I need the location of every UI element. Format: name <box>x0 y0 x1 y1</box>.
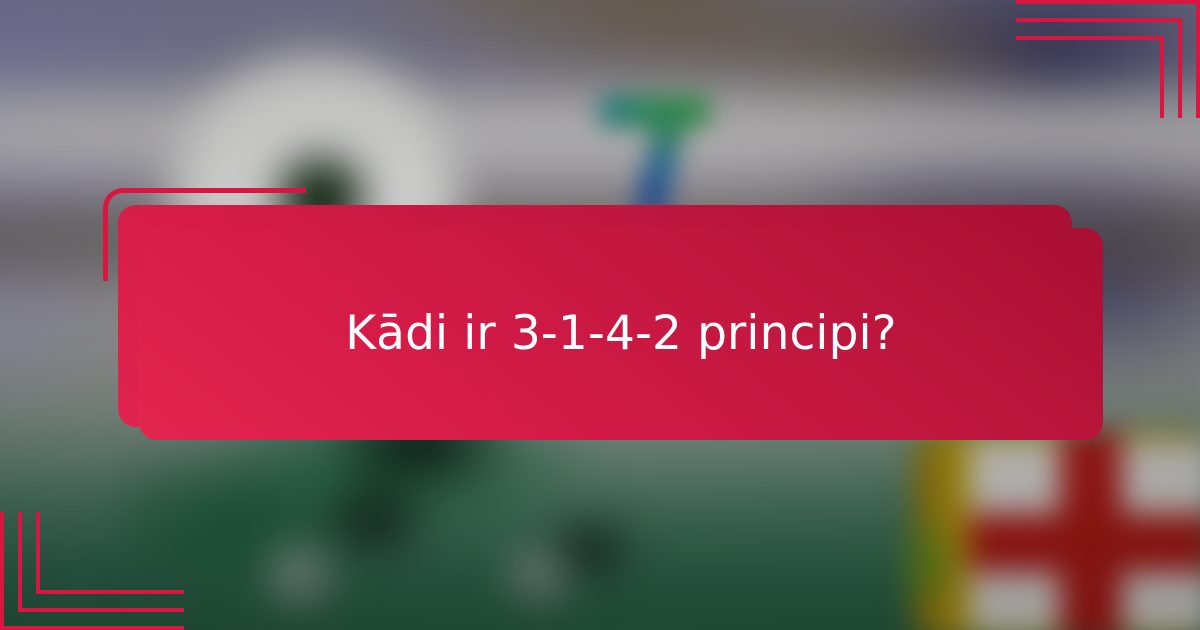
question-card-front: Kādi ir 3-1-4-2 principi? <box>139 228 1103 440</box>
question-title: Kādi ir 3-1-4-2 principi? <box>291 307 950 361</box>
question-card-banner: Kādi ir 3-1-4-2 principi? <box>0 0 1200 630</box>
